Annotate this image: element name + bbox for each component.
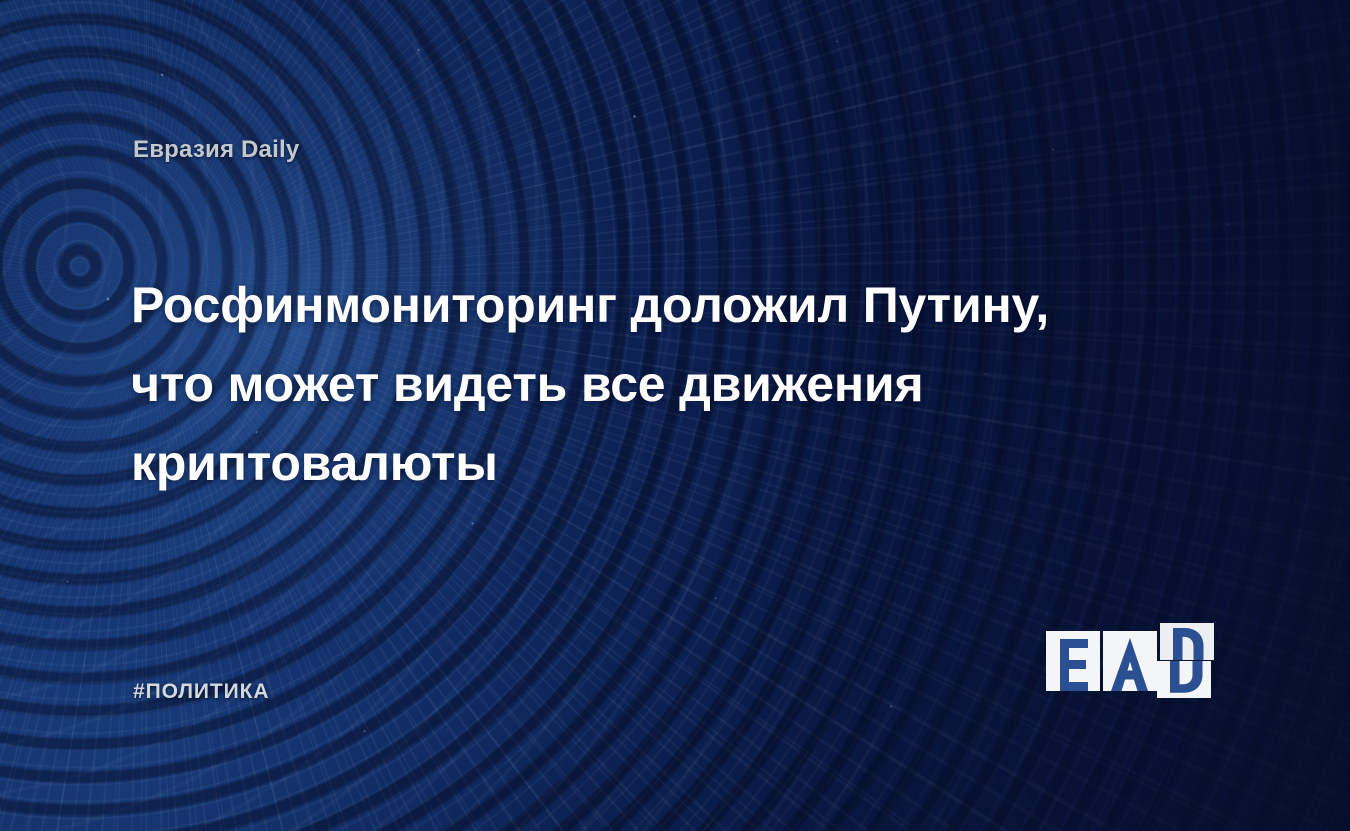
logo-tile-e [1046,631,1100,691]
category-hashtag[interactable]: #ПОЛИТИКА [133,680,269,704]
publication-name: Евразия Daily [133,136,299,164]
headline: Росфинмониторинг доложил Путину, что мож… [131,266,1211,503]
card-content: Евразия Daily Росфинмониторинг доложил П… [0,0,1350,831]
headline-line-1: Росфинмониторинг доложил Путину, [131,266,1211,345]
logo-tile-d-top [1160,623,1214,660]
logo-tile-d-bottom [1157,661,1211,698]
logo-tile-a [1103,631,1157,691]
headline-line-2: что может видеть все движения [131,345,1211,424]
eadaily-logo-graphic [1045,622,1225,698]
eadaily-logo [1045,622,1225,698]
headline-line-3: криптовалюты [131,424,1211,503]
social-share-card: Евразия Daily Росфинмониторинг доложил П… [0,0,1350,831]
